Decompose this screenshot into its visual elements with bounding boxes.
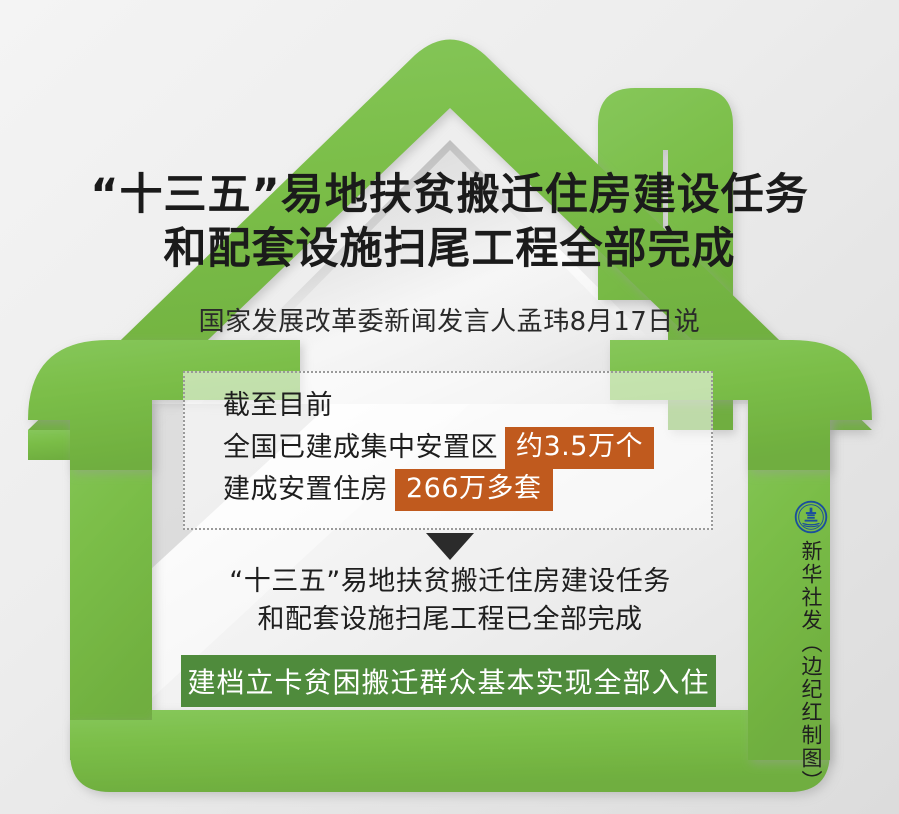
conclusion-line-2: 和配套设施扫尾工程已全部完成 — [160, 601, 740, 639]
title-line-2: 和配套设施扫尾工程全部完成 — [0, 222, 899, 276]
infographic-poster: “十三五”易地扶贫搬迁住房建设任务 和配套设施扫尾工程全部完成 国家发展改革委新… — [0, 0, 899, 814]
credit-text: 新华社发（边纪红制图） — [799, 540, 823, 793]
down-arrow-icon — [426, 533, 474, 560]
stats-row-2-badge: 266万多套 — [395, 469, 553, 511]
poster-subtitle: 国家发展改革委新闻发言人孟玮8月17日说 — [0, 305, 899, 339]
poster-title: “十三五”易地扶贫搬迁住房建设任务 和配套设施扫尾工程全部完成 — [0, 168, 899, 276]
title-line-1: “十三五”易地扶贫搬迁住房建设任务 — [0, 168, 899, 222]
highlight-banner: 建档立卡贫困搬迁群众基本实现全部入住 — [181, 655, 716, 707]
stats-row-1: 全国已建成集中安置区 约3.5万个 — [223, 427, 654, 469]
stats-list: 截至目前 全国已建成集中安置区 约3.5万个 建成安置住房 266万多套 — [223, 385, 654, 511]
highlight-banner-text: 建档立卡贫困搬迁群众基本实现全部入住 — [187, 661, 709, 701]
credit-block: 新华社发（边纪红制图） — [788, 500, 834, 793]
xinhua-seal-logo-icon — [794, 500, 828, 534]
stats-row-2: 建成安置住房 266万多套 — [223, 469, 654, 511]
stats-row-1-label: 全国已建成集中安置区 — [223, 427, 498, 469]
stats-row-2-label: 建成安置住房 — [223, 469, 388, 511]
stats-intro-label: 截至目前 — [223, 385, 333, 427]
stats-intro-row: 截至目前 — [223, 385, 654, 427]
conclusion-text: “十三五”易地扶贫搬迁住房建设任务 和配套设施扫尾工程已全部完成 — [160, 563, 740, 639]
house-base — [70, 710, 830, 792]
stats-row-1-badge: 约3.5万个 — [505, 427, 654, 469]
conclusion-line-1: “十三五”易地扶贫搬迁住房建设任务 — [160, 563, 740, 601]
